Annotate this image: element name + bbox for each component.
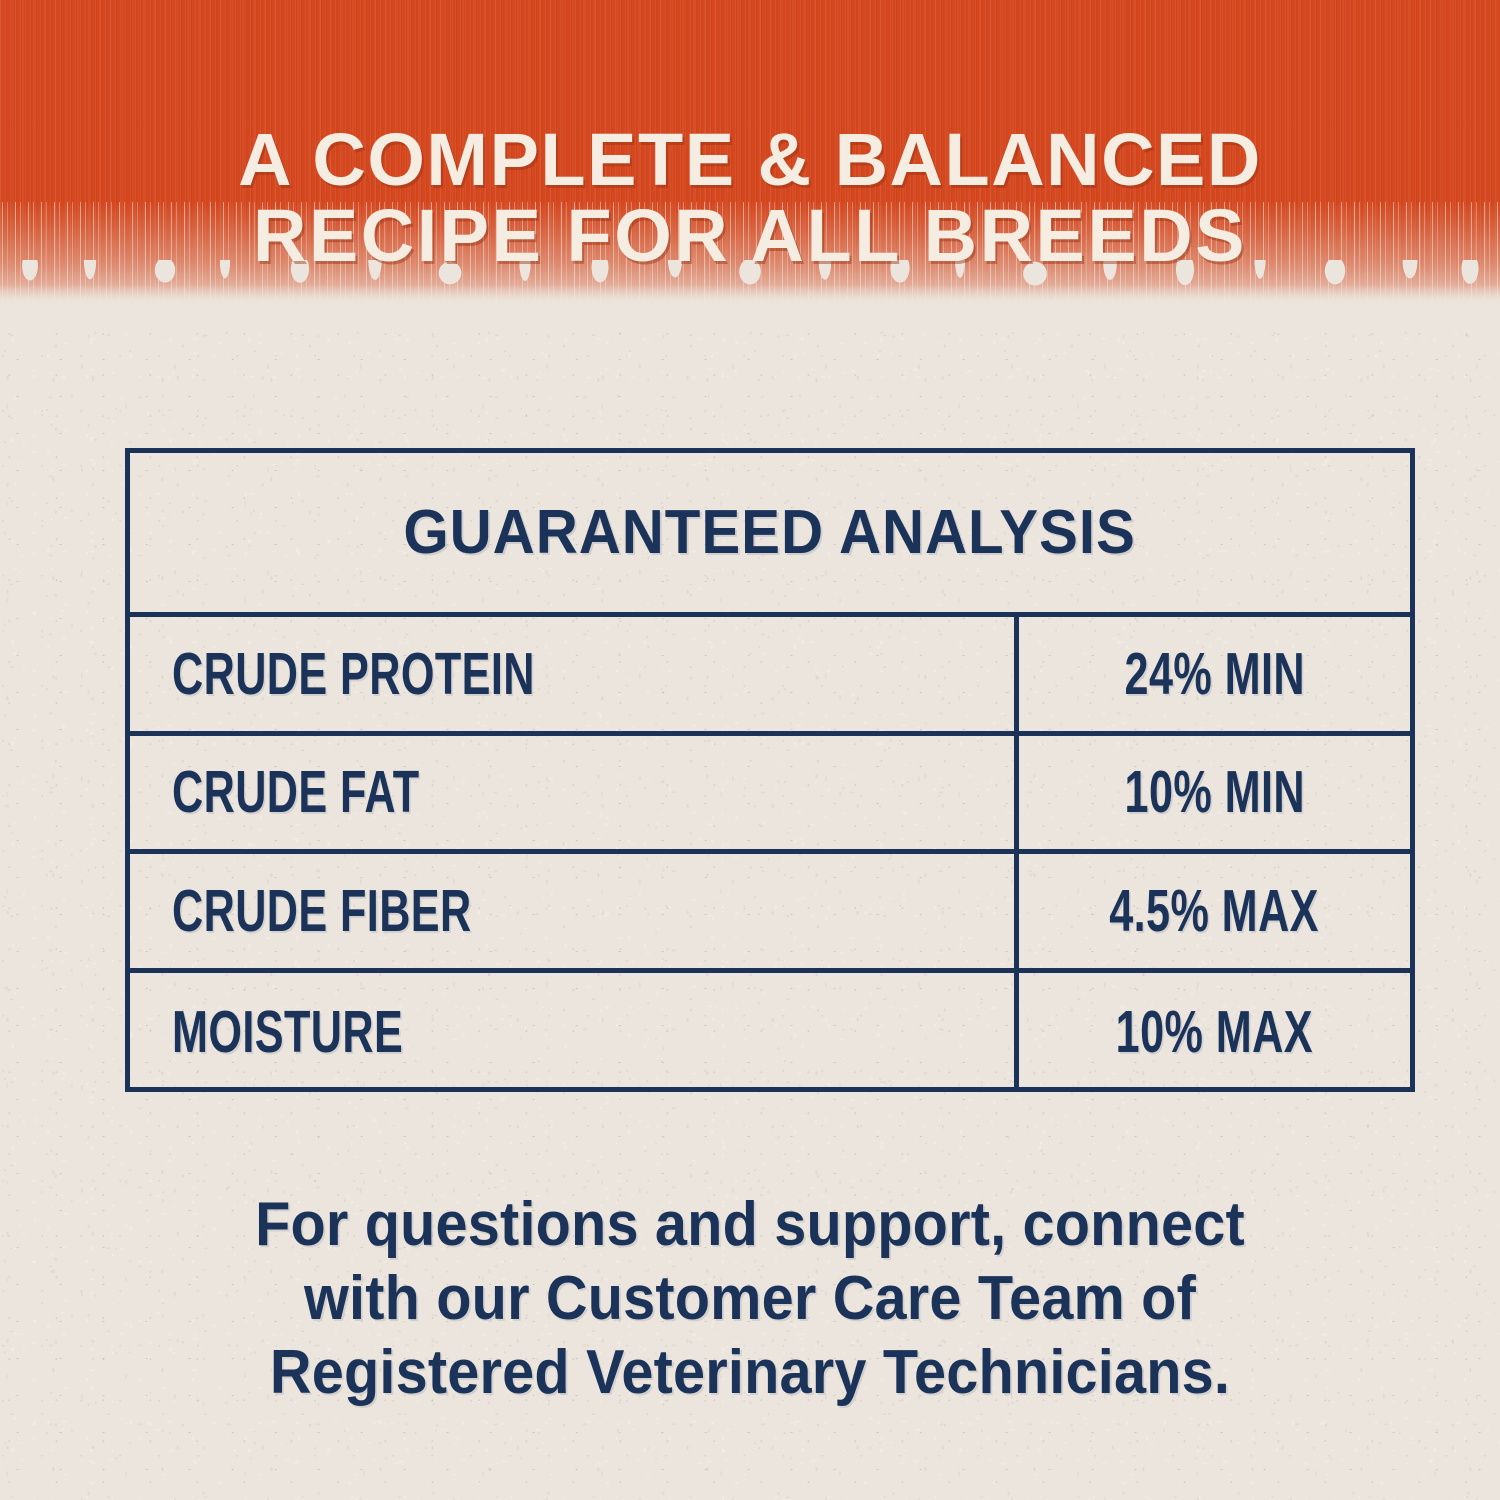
customer-support-note: For questions and support, connect with … — [120, 1188, 1380, 1410]
guaranteed-analysis-table: GUARANTEED ANALYSIS CRUDE PROTEIN 24% MI… — [125, 448, 1415, 1092]
nutrient-label-crude-protein: CRUDE PROTEIN — [172, 640, 535, 708]
table-cell-nutrient-label: MOISTURE — [130, 973, 1019, 1092]
guaranteed-analysis-title: GUARANTEED ANALYSIS — [404, 497, 1136, 568]
table-cell-nutrient-label: CRUDE FIBER — [130, 854, 1019, 968]
nutrient-value-moisture: 10% MAX — [1116, 998, 1313, 1066]
table-cell-nutrient-value: 24% MIN — [1019, 617, 1410, 731]
table-cell-nutrient-value: 10% MAX — [1019, 973, 1410, 1092]
nutrient-label-crude-fat: CRUDE FAT — [172, 758, 420, 826]
nutrient-label-crude-fiber: CRUDE FIBER — [172, 877, 472, 945]
support-note-line-1: For questions and support, connect — [164, 1188, 1336, 1262]
support-note-line-3: Registered Veterinary Technicians. — [164, 1336, 1336, 1410]
banner-heading: A COMPLETE & BALANCED RECIPE FOR ALL BRE… — [0, 122, 1500, 274]
guaranteed-analysis-header-row: GUARANTEED ANALYSIS — [130, 453, 1410, 617]
nutrient-label-moisture: MOISTURE — [172, 998, 403, 1066]
table-row: MOISTURE 10% MAX — [130, 973, 1410, 1092]
table-cell-nutrient-label: CRUDE FAT — [130, 736, 1019, 850]
table-row: CRUDE FAT 10% MIN — [130, 736, 1410, 855]
table-cell-nutrient-value: 10% MIN — [1019, 736, 1410, 850]
table-cell-nutrient-label: CRUDE PROTEIN — [130, 617, 1019, 731]
support-note-line-2: with our Customer Care Team of — [164, 1262, 1336, 1336]
nutrient-value-crude-fiber: 4.5% MAX — [1110, 877, 1320, 945]
table-row: CRUDE FIBER 4.5% MAX — [130, 854, 1410, 973]
product-info-panel: A COMPLETE & BALANCED RECIPE FOR ALL BRE… — [0, 0, 1500, 1500]
banner-heading-line-1: A COMPLETE & BALANCED — [0, 122, 1500, 198]
nutrient-value-crude-protein: 24% MIN — [1124, 640, 1304, 708]
nutrient-value-crude-fat: 10% MIN — [1124, 758, 1304, 826]
table-row: CRUDE PROTEIN 24% MIN — [130, 617, 1410, 736]
banner-heading-line-2: RECIPE FOR ALL BREEDS — [0, 198, 1500, 274]
table-cell-nutrient-value: 4.5% MAX — [1019, 854, 1410, 968]
